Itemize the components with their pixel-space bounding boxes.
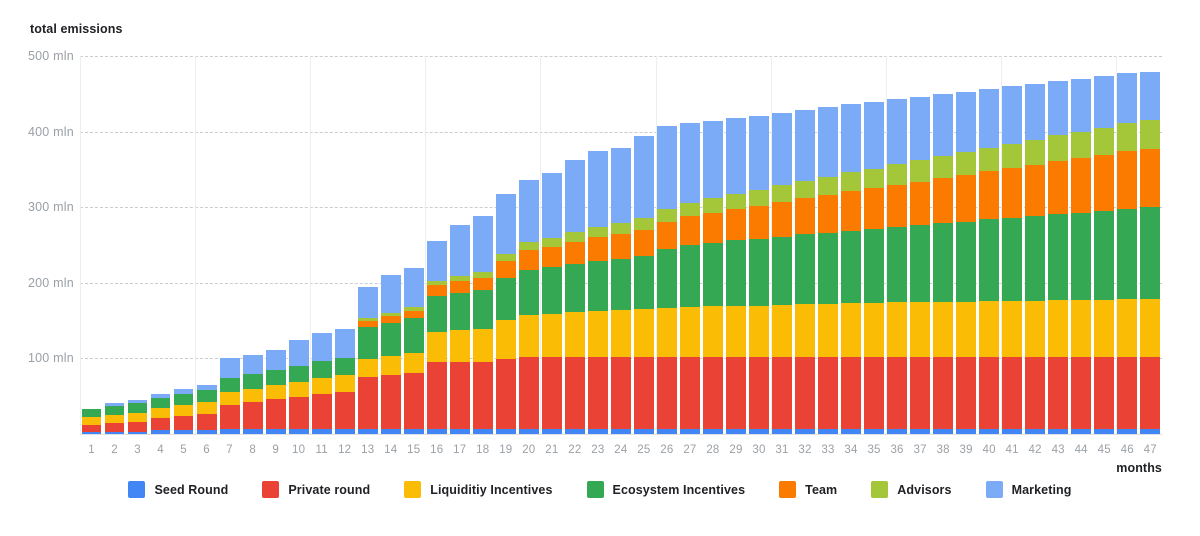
bar-segment[interactable] bbox=[749, 429, 769, 434]
bar-segment[interactable] bbox=[933, 178, 953, 223]
bar-segment[interactable] bbox=[795, 429, 815, 434]
legend-item-advisors[interactable]: Advisors bbox=[871, 481, 951, 498]
bar-column[interactable] bbox=[724, 56, 747, 434]
bar-column[interactable] bbox=[863, 56, 886, 434]
bar-segment[interactable] bbox=[312, 394, 332, 430]
bar-column[interactable] bbox=[241, 56, 264, 434]
bar-segment[interactable] bbox=[1117, 151, 1137, 208]
bar-segment[interactable] bbox=[1140, 120, 1160, 149]
bar-segment[interactable] bbox=[956, 175, 976, 222]
bar-segment[interactable] bbox=[611, 310, 631, 357]
bar-segment[interactable] bbox=[335, 375, 355, 392]
bar-column[interactable] bbox=[103, 56, 126, 434]
bar-segment[interactable] bbox=[910, 160, 930, 181]
bar-segment[interactable] bbox=[611, 259, 631, 310]
bar-column[interactable] bbox=[747, 56, 770, 434]
bar-segment[interactable] bbox=[657, 429, 677, 434]
bar-segment[interactable] bbox=[473, 429, 493, 434]
bar-column[interactable] bbox=[517, 56, 540, 434]
bar-column[interactable] bbox=[1001, 56, 1024, 434]
bar-segment[interactable] bbox=[289, 382, 309, 397]
bar-column[interactable] bbox=[793, 56, 816, 434]
bar-segment[interactable] bbox=[1094, 357, 1114, 429]
bar-column[interactable] bbox=[471, 56, 494, 434]
bar-segment[interactable] bbox=[864, 357, 884, 429]
bar-segment[interactable] bbox=[243, 374, 263, 388]
bar-segment[interactable] bbox=[565, 429, 585, 434]
bar-segment[interactable] bbox=[1002, 301, 1022, 357]
bar-segment[interactable] bbox=[565, 232, 585, 242]
bar-column[interactable] bbox=[195, 56, 218, 434]
bar-segment[interactable] bbox=[542, 314, 562, 357]
bar-segment[interactable] bbox=[772, 357, 792, 429]
bar-segment[interactable] bbox=[220, 405, 240, 430]
bar-segment[interactable] bbox=[105, 415, 125, 423]
bar-segment[interactable] bbox=[496, 261, 516, 278]
bar-segment[interactable] bbox=[864, 169, 884, 189]
bar-segment[interactable] bbox=[887, 185, 907, 227]
bar-column[interactable] bbox=[425, 56, 448, 434]
bar-segment[interactable] bbox=[128, 422, 148, 432]
bar-segment[interactable] bbox=[818, 195, 838, 233]
legend-item-private-round[interactable]: Private round bbox=[262, 481, 370, 498]
bar-segment[interactable] bbox=[335, 329, 355, 358]
bar-segment[interactable] bbox=[450, 362, 470, 429]
bar-segment[interactable] bbox=[427, 332, 447, 362]
bar-segment[interactable] bbox=[818, 233, 838, 304]
bar-segment[interactable] bbox=[956, 92, 976, 152]
bar-segment[interactable] bbox=[404, 353, 424, 373]
bar-segment[interactable] bbox=[749, 190, 769, 206]
bar-column[interactable] bbox=[1093, 56, 1116, 434]
bar-segment[interactable] bbox=[427, 285, 447, 296]
bar-segment[interactable] bbox=[657, 126, 677, 209]
bar-segment[interactable] bbox=[220, 358, 240, 378]
bar-segment[interactable] bbox=[312, 361, 332, 378]
bar-column[interactable] bbox=[1139, 56, 1162, 434]
bar-segment[interactable] bbox=[634, 230, 654, 256]
bar-segment[interactable] bbox=[1002, 429, 1022, 434]
bar-segment[interactable] bbox=[197, 414, 217, 431]
bar-segment[interactable] bbox=[772, 305, 792, 357]
bar-segment[interactable] bbox=[450, 225, 470, 276]
bar-segment[interactable] bbox=[151, 418, 171, 430]
bar-segment[interactable] bbox=[588, 261, 608, 311]
bar-segment[interactable] bbox=[588, 311, 608, 357]
bar-segment[interactable] bbox=[726, 194, 746, 209]
bar-segment[interactable] bbox=[496, 278, 516, 320]
bar-segment[interactable] bbox=[910, 182, 930, 226]
bar-segment[interactable] bbox=[128, 403, 148, 413]
bar-segment[interactable] bbox=[795, 304, 815, 357]
bar-segment[interactable] bbox=[749, 206, 769, 239]
bar-segment[interactable] bbox=[450, 293, 470, 331]
bar-segment[interactable] bbox=[335, 392, 355, 430]
bar-segment[interactable] bbox=[358, 377, 378, 428]
bar-column[interactable] bbox=[264, 56, 287, 434]
bar-segment[interactable] bbox=[634, 309, 654, 357]
bar-segment[interactable] bbox=[1140, 149, 1160, 207]
bar-segment[interactable] bbox=[1094, 300, 1114, 357]
bar-segment[interactable] bbox=[634, 357, 654, 429]
bar-segment[interactable] bbox=[358, 327, 378, 359]
bar-column[interactable] bbox=[1047, 56, 1070, 434]
bar-segment[interactable] bbox=[634, 218, 654, 230]
bar-column[interactable] bbox=[909, 56, 932, 434]
bar-segment[interactable] bbox=[197, 390, 217, 402]
bar-segment[interactable] bbox=[933, 302, 953, 357]
bar-segment[interactable] bbox=[312, 429, 332, 434]
bar-segment[interactable] bbox=[289, 340, 309, 366]
bar-segment[interactable] bbox=[887, 429, 907, 434]
bar-segment[interactable] bbox=[703, 213, 723, 243]
bar-segment[interactable] bbox=[680, 429, 700, 434]
bar-column[interactable] bbox=[218, 56, 241, 434]
bar-segment[interactable] bbox=[1117, 123, 1137, 151]
legend-item-seed-round[interactable]: Seed Round bbox=[128, 481, 228, 498]
bar-segment[interactable] bbox=[335, 358, 355, 375]
bar-segment[interactable] bbox=[542, 238, 562, 247]
bar-segment[interactable] bbox=[956, 302, 976, 357]
bar-segment[interactable] bbox=[565, 264, 585, 312]
bar-column[interactable] bbox=[149, 56, 172, 434]
bar-segment[interactable] bbox=[1002, 168, 1022, 218]
bar-segment[interactable] bbox=[427, 362, 447, 429]
bar-segment[interactable] bbox=[634, 429, 654, 434]
bar-segment[interactable] bbox=[703, 306, 723, 357]
bar-column[interactable] bbox=[701, 56, 724, 434]
bar-column[interactable] bbox=[886, 56, 909, 434]
bar-segment[interactable] bbox=[887, 99, 907, 164]
bar-segment[interactable] bbox=[473, 329, 493, 362]
bar-segment[interactable] bbox=[174, 430, 194, 434]
bar-segment[interactable] bbox=[243, 355, 263, 375]
bar-segment[interactable] bbox=[151, 430, 171, 434]
bar-segment[interactable] bbox=[703, 357, 723, 429]
bar-segment[interactable] bbox=[979, 357, 999, 429]
bar-column[interactable] bbox=[333, 56, 356, 434]
bar-segment[interactable] bbox=[358, 287, 378, 319]
bar-segment[interactable] bbox=[956, 357, 976, 429]
bar-segment[interactable] bbox=[864, 429, 884, 434]
bar-segment[interactable] bbox=[956, 152, 976, 175]
bar-segment[interactable] bbox=[404, 268, 424, 307]
bar-column[interactable] bbox=[632, 56, 655, 434]
bar-column[interactable] bbox=[80, 56, 103, 434]
bar-segment[interactable] bbox=[1071, 429, 1091, 434]
bar-segment[interactable] bbox=[450, 281, 470, 292]
bar-segment[interactable] bbox=[381, 275, 401, 313]
bar-segment[interactable] bbox=[519, 242, 539, 250]
bar-segment[interactable] bbox=[726, 240, 746, 305]
bar-segment[interactable] bbox=[565, 160, 585, 232]
bar-segment[interactable] bbox=[703, 121, 723, 198]
bar-column[interactable] bbox=[932, 56, 955, 434]
bar-column[interactable] bbox=[655, 56, 678, 434]
bar-segment[interactable] bbox=[841, 231, 861, 304]
bar-segment[interactable] bbox=[841, 172, 861, 191]
bar-column[interactable] bbox=[172, 56, 195, 434]
bar-segment[interactable] bbox=[565, 242, 585, 264]
bar-column[interactable] bbox=[1070, 56, 1093, 434]
bar-segment[interactable] bbox=[335, 429, 355, 434]
bar-segment[interactable] bbox=[381, 323, 401, 356]
bar-segment[interactable] bbox=[266, 350, 286, 370]
bar-segment[interactable] bbox=[841, 303, 861, 357]
bar-segment[interactable] bbox=[956, 429, 976, 434]
bar-segment[interactable] bbox=[956, 222, 976, 302]
bar-segment[interactable] bbox=[1048, 300, 1068, 357]
bar-segment[interactable] bbox=[1117, 299, 1137, 356]
bar-segment[interactable] bbox=[703, 429, 723, 434]
bar-segment[interactable] bbox=[979, 148, 999, 171]
bar-segment[interactable] bbox=[933, 429, 953, 434]
bar-segment[interactable] bbox=[1071, 132, 1091, 158]
legend-item-ecosystem-incentives[interactable]: Ecosystem Incentives bbox=[587, 481, 746, 498]
legend-item-liquiditiy-incentives[interactable]: Liquiditiy Incentives bbox=[404, 481, 552, 498]
bar-segment[interactable] bbox=[1025, 357, 1045, 429]
bar-column[interactable] bbox=[1116, 56, 1139, 434]
bar-segment[interactable] bbox=[1025, 301, 1045, 357]
bar-column[interactable] bbox=[978, 56, 1001, 434]
bar-column[interactable] bbox=[310, 56, 333, 434]
bar-segment[interactable] bbox=[818, 429, 838, 434]
bar-segment[interactable] bbox=[979, 89, 999, 148]
bar-segment[interactable] bbox=[864, 102, 884, 169]
bar-segment[interactable] bbox=[1025, 216, 1045, 301]
bar-segment[interactable] bbox=[887, 357, 907, 429]
bar-segment[interactable] bbox=[496, 429, 516, 434]
bar-segment[interactable] bbox=[1048, 161, 1068, 214]
bar-segment[interactable] bbox=[381, 316, 401, 323]
bar-segment[interactable] bbox=[197, 402, 217, 413]
bar-segment[interactable] bbox=[1048, 357, 1068, 429]
bar-column[interactable] bbox=[126, 56, 149, 434]
bar-segment[interactable] bbox=[1094, 76, 1114, 127]
bar-segment[interactable] bbox=[266, 370, 286, 385]
bar-segment[interactable] bbox=[82, 432, 102, 434]
bar-segment[interactable] bbox=[680, 123, 700, 202]
bar-column[interactable] bbox=[402, 56, 425, 434]
bar-segment[interactable] bbox=[473, 278, 493, 290]
bar-segment[interactable] bbox=[910, 97, 930, 161]
bar-segment[interactable] bbox=[128, 413, 148, 422]
bar-segment[interactable] bbox=[1094, 211, 1114, 300]
bar-segment[interactable] bbox=[427, 241, 447, 280]
bar-segment[interactable] bbox=[1117, 73, 1137, 123]
bar-segment[interactable] bbox=[1117, 357, 1137, 429]
bar-segment[interactable] bbox=[979, 301, 999, 357]
bar-segment[interactable] bbox=[588, 237, 608, 260]
bar-segment[interactable] bbox=[542, 267, 562, 314]
bar-segment[interactable] bbox=[795, 234, 815, 304]
bar-segment[interactable] bbox=[519, 429, 539, 434]
bar-segment[interactable] bbox=[1002, 218, 1022, 301]
bar-segment[interactable] bbox=[243, 402, 263, 429]
bar-column[interactable] bbox=[817, 56, 840, 434]
bar-segment[interactable] bbox=[749, 239, 769, 306]
bar-segment[interactable] bbox=[1117, 429, 1137, 434]
bar-segment[interactable] bbox=[818, 357, 838, 429]
bar-segment[interactable] bbox=[841, 104, 861, 172]
bar-segment[interactable] bbox=[703, 243, 723, 307]
bar-segment[interactable] bbox=[220, 429, 240, 434]
bar-segment[interactable] bbox=[381, 429, 401, 434]
bar-segment[interactable] bbox=[588, 227, 608, 238]
bar-segment[interactable] bbox=[795, 198, 815, 234]
bar-column[interactable] bbox=[379, 56, 402, 434]
bar-segment[interactable] bbox=[519, 250, 539, 270]
bar-segment[interactable] bbox=[611, 148, 631, 224]
bar-segment[interactable] bbox=[404, 311, 424, 319]
bar-segment[interactable] bbox=[312, 378, 332, 394]
bar-segment[interactable] bbox=[473, 216, 493, 273]
bar-segment[interactable] bbox=[519, 315, 539, 357]
bar-segment[interactable] bbox=[657, 308, 677, 357]
bar-segment[interactable] bbox=[910, 225, 930, 302]
bar-segment[interactable] bbox=[151, 398, 171, 409]
bar-segment[interactable] bbox=[1048, 135, 1068, 161]
bar-segment[interactable] bbox=[220, 392, 240, 405]
bar-segment[interactable] bbox=[772, 185, 792, 202]
bar-segment[interactable] bbox=[1094, 155, 1114, 211]
bar-segment[interactable] bbox=[289, 429, 309, 434]
bar-segment[interactable] bbox=[1071, 213, 1091, 301]
bar-segment[interactable] bbox=[841, 429, 861, 434]
bar-segment[interactable] bbox=[1117, 209, 1137, 300]
bar-segment[interactable] bbox=[887, 164, 907, 184]
bar-segment[interactable] bbox=[772, 202, 792, 237]
bar-segment[interactable] bbox=[1140, 429, 1160, 434]
bar-segment[interactable] bbox=[1048, 81, 1068, 135]
bar-segment[interactable] bbox=[128, 432, 148, 434]
bar-segment[interactable] bbox=[82, 409, 102, 417]
bar-segment[interactable] bbox=[266, 385, 286, 399]
bar-segment[interactable] bbox=[933, 94, 953, 156]
bar-segment[interactable] bbox=[542, 429, 562, 434]
bar-segment[interactable] bbox=[174, 394, 194, 405]
bar-segment[interactable] bbox=[243, 429, 263, 434]
bar-segment[interactable] bbox=[1094, 128, 1114, 155]
bar-segment[interactable] bbox=[542, 173, 562, 237]
bar-segment[interactable] bbox=[634, 256, 654, 309]
bar-segment[interactable] bbox=[979, 219, 999, 301]
bar-segment[interactable] bbox=[1025, 84, 1045, 140]
bar-segment[interactable] bbox=[496, 359, 516, 429]
legend-item-team[interactable]: Team bbox=[779, 481, 837, 498]
bar-segment[interactable] bbox=[289, 397, 309, 430]
bar-segment[interactable] bbox=[657, 249, 677, 308]
bar-segment[interactable] bbox=[933, 223, 953, 302]
bar-segment[interactable] bbox=[979, 171, 999, 219]
bar-segment[interactable] bbox=[174, 405, 194, 416]
bar-segment[interactable] bbox=[864, 303, 884, 357]
bar-segment[interactable] bbox=[105, 423, 125, 431]
bar-segment[interactable] bbox=[1071, 79, 1091, 132]
bar-segment[interactable] bbox=[680, 245, 700, 307]
bar-segment[interactable] bbox=[657, 222, 677, 249]
bar-segment[interactable] bbox=[887, 227, 907, 303]
bar-segment[interactable] bbox=[1140, 207, 1160, 299]
bar-segment[interactable] bbox=[565, 357, 585, 429]
bar-segment[interactable] bbox=[312, 333, 332, 362]
bar-segment[interactable] bbox=[565, 312, 585, 357]
bar-column[interactable] bbox=[563, 56, 586, 434]
bar-segment[interactable] bbox=[496, 320, 516, 359]
bar-segment[interactable] bbox=[496, 254, 516, 261]
bar-segment[interactable] bbox=[1140, 299, 1160, 356]
bar-segment[interactable] bbox=[772, 429, 792, 434]
bar-segment[interactable] bbox=[1140, 357, 1160, 429]
bar-segment[interactable] bbox=[910, 429, 930, 434]
bar-segment[interactable] bbox=[726, 209, 746, 241]
bar-segment[interactable] bbox=[611, 429, 631, 434]
bar-segment[interactable] bbox=[289, 366, 309, 382]
bar-segment[interactable] bbox=[220, 378, 240, 392]
bar-segment[interactable] bbox=[404, 373, 424, 429]
bar-segment[interactable] bbox=[266, 399, 286, 429]
bar-column[interactable] bbox=[356, 56, 379, 434]
bar-segment[interactable] bbox=[634, 136, 654, 218]
bar-segment[interactable] bbox=[611, 234, 631, 258]
bar-segment[interactable] bbox=[703, 198, 723, 212]
bar-column[interactable] bbox=[494, 56, 517, 434]
bar-segment[interactable] bbox=[795, 357, 815, 429]
bar-segment[interactable] bbox=[542, 357, 562, 429]
bar-segment[interactable] bbox=[726, 429, 746, 434]
bar-segment[interactable] bbox=[450, 330, 470, 362]
bar-segment[interactable] bbox=[726, 357, 746, 429]
bar-segment[interactable] bbox=[1071, 300, 1091, 357]
bar-segment[interactable] bbox=[818, 107, 838, 177]
bar-column[interactable] bbox=[448, 56, 471, 434]
bar-segment[interactable] bbox=[772, 113, 792, 186]
bar-segment[interactable] bbox=[1002, 357, 1022, 429]
bar-segment[interactable] bbox=[841, 191, 861, 230]
bar-segment[interactable] bbox=[519, 180, 539, 242]
bar-segment[interactable] bbox=[1094, 429, 1114, 434]
bar-segment[interactable] bbox=[151, 408, 171, 418]
bar-segment[interactable] bbox=[749, 306, 769, 357]
bar-segment[interactable] bbox=[1002, 86, 1022, 143]
bar-segment[interactable] bbox=[795, 181, 815, 198]
bar-column[interactable] bbox=[287, 56, 310, 434]
bar-segment[interactable] bbox=[243, 389, 263, 403]
bar-segment[interactable] bbox=[266, 429, 286, 434]
bar-column[interactable] bbox=[955, 56, 978, 434]
bar-segment[interactable] bbox=[864, 188, 884, 229]
bar-segment[interactable] bbox=[1071, 357, 1091, 429]
bar-segment[interactable] bbox=[496, 194, 516, 254]
bar-column[interactable] bbox=[678, 56, 701, 434]
bar-segment[interactable] bbox=[381, 375, 401, 429]
bar-column[interactable] bbox=[840, 56, 863, 434]
bar-segment[interactable] bbox=[818, 304, 838, 357]
bar-segment[interactable] bbox=[611, 357, 631, 429]
bar-segment[interactable] bbox=[979, 429, 999, 434]
bar-segment[interactable] bbox=[1025, 429, 1045, 434]
bar-segment[interactable] bbox=[381, 356, 401, 375]
bar-segment[interactable] bbox=[105, 432, 125, 434]
bar-segment[interactable] bbox=[588, 151, 608, 227]
bar-column[interactable] bbox=[540, 56, 563, 434]
bar-segment[interactable] bbox=[105, 406, 125, 415]
bar-segment[interactable] bbox=[358, 429, 378, 434]
bar-segment[interactable] bbox=[358, 359, 378, 377]
bar-segment[interactable] bbox=[841, 357, 861, 429]
bar-segment[interactable] bbox=[1002, 144, 1022, 168]
bar-segment[interactable] bbox=[887, 302, 907, 356]
